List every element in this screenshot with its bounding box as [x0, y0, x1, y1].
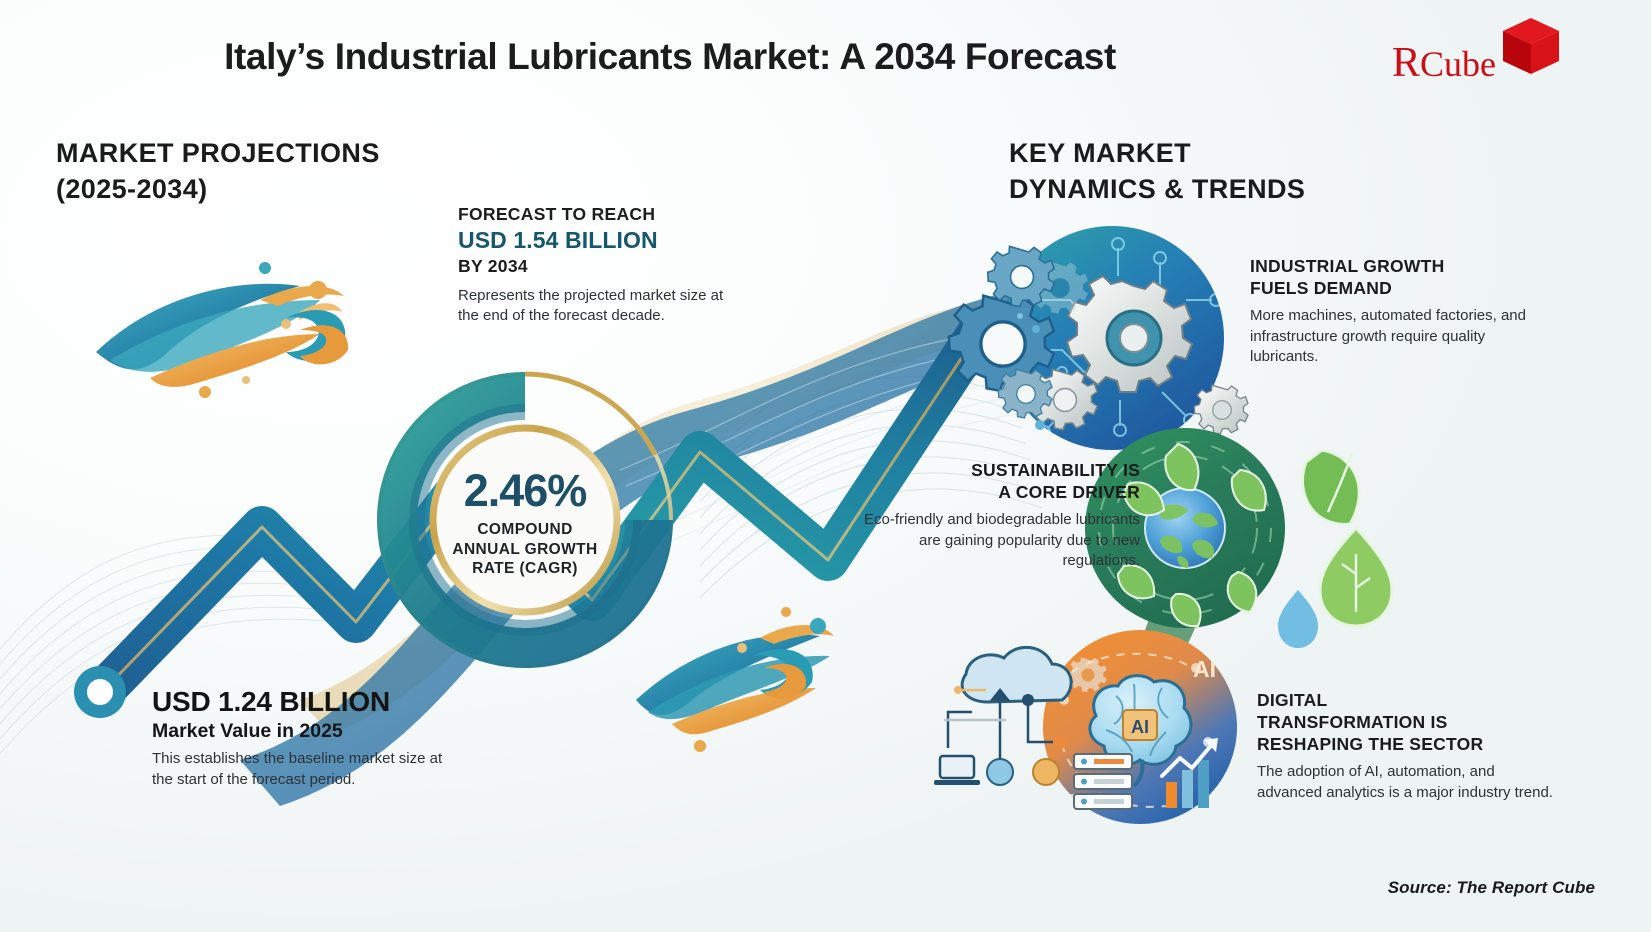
cagr-label-line-1: COMPOUND [424, 520, 626, 540]
trend-title-line-2: FUELS DEMAND [1250, 277, 1540, 299]
fluid-swirl-top-icon [96, 262, 348, 398]
forecast-year: BY 2034 [458, 255, 738, 277]
forecast-callout: FORECAST TO REACH USD 1.54 BILLION BY 20… [458, 203, 738, 327]
trend-title-line-1: DIGITAL [1257, 689, 1557, 711]
heading-line-1: KEY MARKET [1009, 136, 1509, 172]
red-cube-icon [1500, 16, 1562, 78]
cagr-label-line-2: ANNUAL GROWTH [424, 540, 626, 560]
baseline-callout: USD 1.24 BILLION Market Value in 2025 Th… [152, 686, 452, 791]
cloud-icon [962, 647, 1071, 702]
baseline-subtitle: Market Value in 2025 [152, 720, 452, 743]
logo-wordmark: ЯCube [1392, 42, 1496, 85]
infographic-canvas: AI AI [0, 0, 1651, 932]
gears-circuit-icon [949, 226, 1248, 450]
logo-reversed-r-icon: Я [1392, 42, 1420, 84]
server-stack-icon [1074, 754, 1132, 809]
trend-title-line-3: RESHAPING THE SECTOR [1257, 733, 1557, 755]
forecast-kicker: FORECAST TO REACH [458, 203, 738, 225]
trend-description: More machines, automated factories, and … [1250, 306, 1540, 368]
cagr-percent: 2.46% [424, 468, 626, 513]
trend-item-industrial-growth: INDUSTRIAL GROWTH FUELS DEMAND More mach… [1250, 255, 1540, 368]
trend-title-line-1: SUSTAINABILITY IS [848, 459, 1140, 481]
ai-brain-icon: AI AI [934, 630, 1237, 824]
trend-item-digital-transformation: DIGITAL TRANSFORMATION IS RESHAPING THE … [1257, 689, 1557, 804]
cagr-callout: 2.46% COMPOUND ANNUAL GROWTH RATE (CAGR) [424, 468, 626, 579]
page-title: Italy’s Industrial Lubricants Market: A … [0, 36, 1340, 78]
baseline-value: USD 1.24 BILLION [152, 686, 452, 717]
svg-text:AI: AI [1131, 717, 1149, 737]
trend-description: The adoption of AI, automation, and adva… [1257, 762, 1557, 803]
heading-line-1: MARKET PROJECTIONS [56, 136, 576, 172]
forecast-description: Represents the projected market size at … [458, 286, 738, 327]
trend-title-line-1: INDUSTRIAL GROWTH [1250, 255, 1540, 277]
brand-logo[interactable]: ЯCube [1392, 28, 1592, 100]
svg-text:AI: AI [1193, 656, 1216, 682]
trend-title: INDUSTRIAL GROWTH FUELS DEMAND [1250, 255, 1540, 299]
heading-line-2: DYNAMICS & TRENDS [1009, 172, 1509, 208]
section-heading-key-dynamics: KEY MARKET DYNAMICS & TRENDS [1009, 136, 1509, 208]
trend-title-line-2: TRANSFORMATION IS [1257, 711, 1557, 733]
trend-title-line-2: A CORE DRIVER [848, 481, 1140, 503]
droplet-leaf-outside [1320, 528, 1392, 626]
forecast-value: USD 1.54 BILLION [458, 226, 738, 255]
trend-title: SUSTAINABILITY IS A CORE DRIVER [848, 459, 1140, 503]
trend-description: Eco-friendly and biodegradable lubricant… [848, 510, 1140, 572]
cagr-label: COMPOUND ANNUAL GROWTH RATE (CAGR) [424, 520, 626, 579]
baseline-description: This establishes the baseline market siz… [152, 749, 452, 790]
gear-edge-right [1194, 385, 1248, 434]
leaf-outside [1303, 450, 1360, 524]
trend-title: DIGITAL TRANSFORMATION IS RESHAPING THE … [1257, 689, 1557, 755]
water-drop-small [1278, 590, 1318, 648]
cagr-label-line-3: RATE (CAGR) [424, 559, 626, 579]
logo-word: Cube [1420, 44, 1496, 84]
fluid-swirl-bottom-icon [636, 607, 834, 752]
source-attribution: Source: The Report Cube [1120, 878, 1595, 898]
trend-item-sustainability: SUSTAINABILITY IS A CORE DRIVER Eco-frie… [848, 459, 1140, 572]
section-heading-market-projections: MARKET PROJECTIONS (2025-2034) [56, 136, 576, 208]
